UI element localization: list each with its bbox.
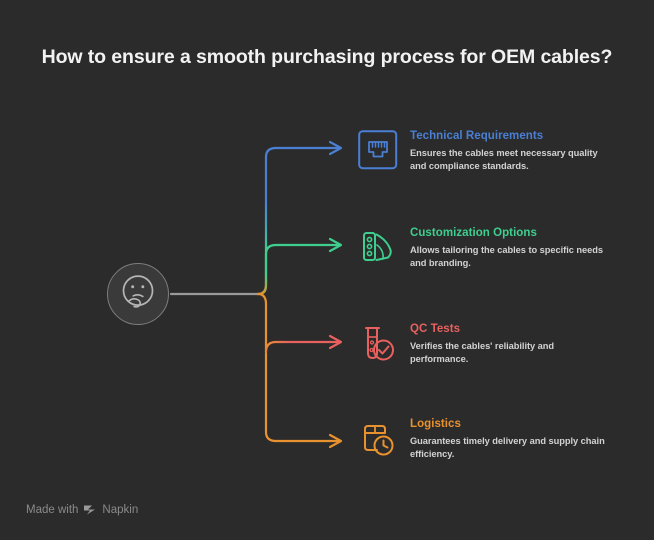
watermark-brand: Napkin [102, 504, 138, 516]
branch-text-block: Technical Requirements Ensures the cable… [410, 129, 608, 172]
watermark-made-with: Made with [26, 504, 78, 516]
color-swatch-fan-icon [358, 226, 398, 270]
branch-label: QC Tests [410, 322, 608, 336]
branch-label: Logistics [410, 417, 608, 431]
napkin-logo-icon [83, 504, 97, 516]
branch-label: Technical Requirements [410, 129, 608, 143]
watermark[interactable]: Made with Napkin [26, 504, 138, 516]
ethernet-port-icon [358, 129, 398, 173]
branch-description: Allows tailoring the cables to specific … [410, 244, 608, 269]
test-tube-check-icon [358, 322, 398, 366]
branch-description: Verifies the cables' reliability and per… [410, 340, 608, 365]
package-clock-icon [358, 417, 398, 461]
thinking-face-emoji [108, 264, 168, 324]
branch-description: Ensures the cables meet necessary qualit… [410, 147, 608, 172]
infographic-canvas: How to ensure a smooth purchasing proces… [0, 0, 654, 540]
branch-text-block: Logistics Guarantees timely delivery and… [410, 417, 608, 460]
branch-text-block: Customization Options Allows tailoring t… [410, 226, 608, 269]
branch-label: Customization Options [410, 226, 608, 240]
central-hub-node[interactable] [107, 263, 169, 325]
branch-description: Guarantees timely delivery and supply ch… [410, 435, 608, 460]
branch-text-block: QC Tests Verifies the cables' reliabilit… [410, 322, 608, 365]
